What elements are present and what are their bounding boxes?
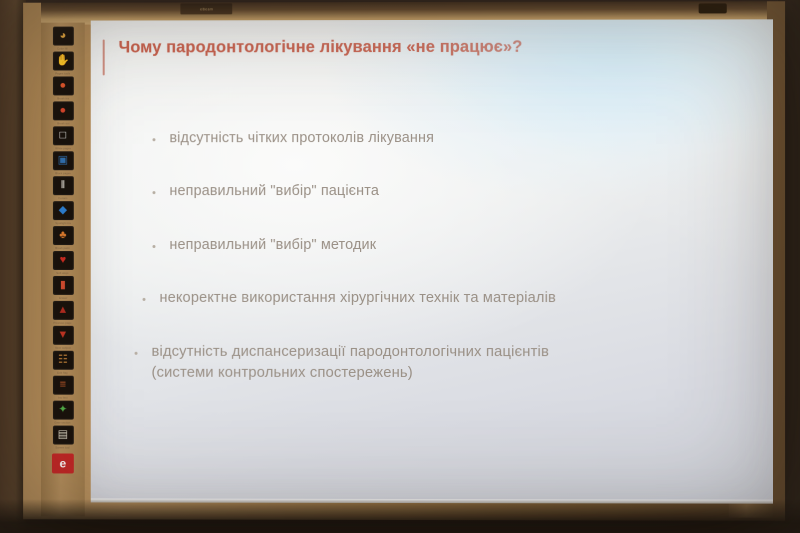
wall-left-panel: [0, 0, 26, 533]
bullet-dot-icon: [152, 192, 155, 195]
red-ball-icon-2: ●: [52, 101, 73, 120]
tool-label: Screen tool: [56, 446, 70, 450]
nameplate-text: eBeam: [200, 7, 213, 12]
whiteboard-frame: eBeam ◕Color fill✋Pages tools●Brush ins●…: [23, 1, 785, 520]
tool-label: Next subject: [55, 346, 71, 350]
tool-label: Previous page: [54, 321, 72, 325]
tool-label: Brush ins: [57, 97, 69, 101]
brand-logo-icon[interactable]: e: [52, 453, 74, 473]
bullet-list: відсутність чітких протоколів лікування …: [135, 128, 755, 418]
left-tool-flame-icon[interactable]: ♣Brush paint: [43, 226, 83, 250]
palette-icon: ◕: [52, 27, 73, 46]
bullet-text: неправильний "вибір" пацієнта: [169, 181, 379, 202]
left-tool-blank-page-icon[interactable]: □White pages: [43, 126, 83, 150]
window-icon: ▤: [52, 426, 73, 445]
left-tool-grid-icon[interactable]: ☷Edit flag: [43, 351, 83, 375]
room-scene: eBeam ◕Color fill✋Pages tools●Brush ins●…: [0, 0, 800, 533]
page-title: Чому пародонтологічне лікування «не прац…: [119, 38, 523, 58]
left-tool-shapes-icon[interactable]: ✦Gear section: [43, 401, 83, 425]
bullet-text: відсутність чітких протоколів лікування: [169, 128, 434, 149]
spotlight-icon: ◆: [52, 201, 73, 220]
bullet-dot-icon: [135, 352, 138, 355]
ir-sensor-icon: [699, 3, 727, 13]
blank-page-icon: □: [52, 126, 73, 145]
left-tool-stack-icon[interactable]: ≡Ins first: [43, 376, 83, 400]
chevron-up-icon: ▲: [52, 301, 73, 320]
hand-icon: ✋: [52, 52, 73, 71]
image-page-icon: ▣: [52, 151, 73, 170]
tool-label: Soft ways: [57, 271, 69, 275]
flame-icon: ♣: [52, 226, 73, 245]
left-tool-rail[interactable]: ◕Color fill✋Pages tools●Brush ins●Brush …: [41, 23, 85, 517]
red-ball-icon: ●: [52, 76, 73, 95]
floor-shadow: [0, 499, 800, 533]
tool-label: Spotlight ins: [55, 221, 71, 225]
tool-label: Brush paint: [56, 246, 70, 250]
tool-label: Brush out: [57, 121, 69, 125]
bullet-dot-icon: [152, 245, 155, 248]
eraser-icon: ▮: [52, 276, 73, 295]
list-item: відсутність чітких протоколів лікування: [152, 128, 754, 149]
brand-nameplate: eBeam: [180, 3, 232, 14]
tool-label: Block pages: [55, 171, 70, 175]
bullet-text: некоректне використання хірургічних техн…: [159, 288, 555, 309]
grid-icon: ☷: [52, 351, 73, 370]
projection-screen[interactable]: Чому пародонтологічне лікування «не прац…: [91, 19, 773, 503]
left-tool-red-ball-icon-2[interactable]: ●Brush out: [43, 101, 83, 125]
tool-label: Edit flag: [58, 371, 68, 375]
chevron-down-icon: ▼: [52, 326, 73, 345]
bullet-text: неправильний "вибір" методик: [169, 235, 376, 255]
tool-label: Eraser: [59, 296, 67, 300]
left-tool-red-flame-icon[interactable]: ♥Soft ways: [43, 251, 83, 275]
left-tool-eraser-icon[interactable]: ▮Eraser: [43, 276, 83, 300]
tool-label: Color fill: [58, 47, 68, 51]
bullet-dot-icon: [143, 298, 146, 301]
list-item: некоректне використання хірургічних техн…: [143, 288, 755, 309]
left-tool-chevron-down-icon[interactable]: ▼Next subject: [43, 326, 83, 350]
tool-label: Pages tools: [55, 72, 70, 76]
left-tool-image-page-icon[interactable]: ▣Block pages: [43, 151, 83, 175]
slide-title-row: Чому пародонтологічне лікування «не прац…: [103, 38, 523, 76]
left-tool-spotlight-icon[interactable]: ◆Spotlight ins: [43, 201, 83, 225]
left-tool-red-ball-icon[interactable]: ●Brush ins: [43, 76, 83, 100]
tool-label: Curtain: [58, 196, 67, 200]
left-tool-chevron-up-icon[interactable]: ▲Previous page: [43, 301, 83, 325]
bullet-text-block: відсутність диспансеризації пародонтолог…: [151, 342, 549, 384]
left-tool-palette-icon[interactable]: ◕Color fill: [43, 27, 83, 51]
curtain-icon: ‖: [52, 176, 73, 195]
tool-label: Gear section: [55, 421, 71, 425]
list-item: неправильний "вибір" пацієнта: [152, 181, 754, 202]
bullet-dot-icon: [152, 138, 155, 141]
shapes-icon: ✦: [52, 401, 73, 420]
left-tool-hand-icon[interactable]: ✋Pages tools: [43, 52, 83, 76]
list-item: відсутність диспансеризації пародонтолог…: [135, 342, 755, 384]
bullet-text-line2: (системи контрольних спостережень): [151, 363, 549, 384]
left-tool-curtain-icon[interactable]: ‖Curtain: [43, 176, 83, 200]
left-tool-window-icon[interactable]: ▤Screen tool: [43, 426, 83, 450]
red-flame-icon: ♥: [52, 251, 73, 270]
title-accent-bar: [103, 39, 105, 75]
list-item: неправильний "вибір" методик: [152, 235, 754, 256]
tool-label: White pages: [55, 146, 71, 150]
bullet-text: відсутність диспансеризації пародонтолог…: [151, 342, 549, 363]
tool-label: Ins first: [58, 396, 67, 400]
presentation-slide: Чому пародонтологічне лікування «не прац…: [91, 19, 773, 503]
stack-icon: ≡: [52, 376, 73, 395]
